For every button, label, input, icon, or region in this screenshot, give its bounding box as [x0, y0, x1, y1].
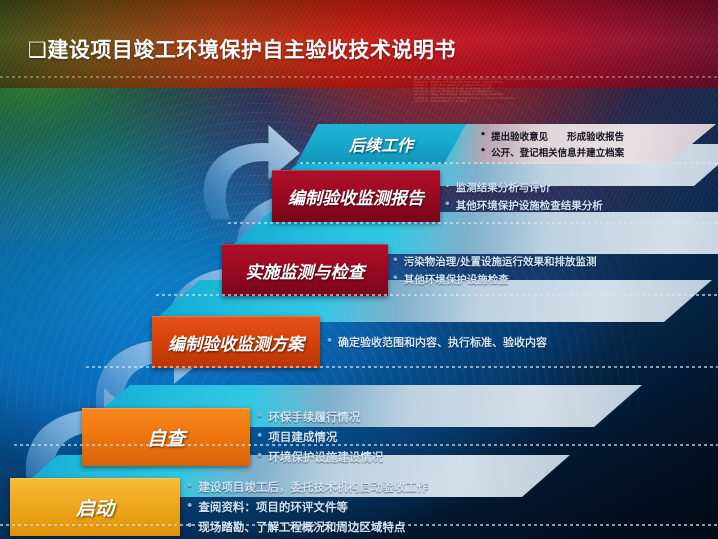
step-3-bullet-1-text: 确定验收范围和内容、执行标准、验收内容	[338, 334, 547, 350]
step-2-bullet-1: • 环保手续履行情况	[256, 409, 586, 425]
step-2-bullet-2-text: 项目建成情况	[268, 429, 337, 445]
step-1-bullet-1-text: 建设项目竣工后，委托技术机构启动验收工作	[198, 479, 428, 495]
step-4-bullet-2-text: 其他环境保护设施检查	[404, 272, 509, 287]
separator-line-bottom	[0, 524, 718, 526]
bullet-dot-icon: •	[480, 146, 486, 156]
separator-line-top	[300, 162, 718, 164]
step-4-plate[interactable]: 实施监测与检查	[222, 244, 388, 296]
step-6-bullet-2-text: 公开、登记相关信息并建立档案	[491, 145, 624, 159]
separator-line-5	[14, 444, 718, 446]
step-1-label: 启动	[76, 494, 114, 521]
step-1-bullet-3: • 现场踏勘、了解工程概况和周边区域特点	[186, 519, 606, 535]
step-1-bullets: • 建设项目竣工后，委托技术机构启动验收工作 • 查阅资料：项目的环评文件等 •…	[186, 478, 606, 536]
step-4-bullets: • 污染物治理/处置设施运行效果和排放监测 • 其他环境保护设施检查	[392, 244, 712, 296]
step-2-bullet-3: • 环境保护设施建设情况	[256, 449, 586, 465]
step-2-plate[interactable]: 自查	[82, 408, 250, 466]
bullet-dot-icon: •	[392, 273, 399, 284]
step-6-bullet-1: • 提出验收意见 形成验收报告	[480, 129, 716, 143]
step-6-label: 后续工作	[349, 132, 413, 156]
step-6-bullets: • 提出验收意见 形成验收报告 • 公开、登记相关信息并建立档案	[480, 124, 716, 164]
step-1-plate[interactable]: 启动	[10, 478, 180, 536]
step-4-bullet-1: • 污染物治理/处置设施运行效果和排放监测	[392, 254, 712, 269]
step-6-plate[interactable]: 后续工作	[296, 124, 466, 164]
step-3-bullet-1: • 确定验收范围和内容、执行标准、验收内容	[326, 334, 686, 350]
bullet-dot-icon: •	[256, 450, 263, 462]
step-4-label: 实施监测与检查	[246, 258, 365, 283]
step-2-bullet-2: • 项目建成情况	[256, 429, 586, 445]
step-1-bullet-2: • 查阅资料：项目的环评文件等	[186, 499, 606, 515]
bullet-dot-icon: •	[444, 181, 451, 192]
step-4-bullet-2: • 其他环境保护设施检查	[392, 272, 712, 287]
page-title: ❑建设项目竣工环境保护自主验收技术说明书	[28, 34, 456, 64]
step-5-label: 编制验收监测报告	[288, 184, 424, 209]
step-5-bullet-1: • 监测结果分析与评价	[444, 180, 714, 195]
step-2-bullet-1-text: 环保手续履行情况	[268, 409, 360, 425]
step-2-bullets: • 环保手续履行情况 • 项目建成情况 • 环境保护设施建设情况	[256, 408, 586, 466]
step-2-bullet-3-text: 环境保护设施建设情况	[268, 449, 383, 465]
title-underline	[0, 76, 718, 78]
bullet-dot-icon: •	[256, 430, 263, 442]
slide-canvas: Notes: Construction Project Completion E…	[0, 0, 718, 539]
separator-line-2	[228, 222, 718, 224]
separator-line-3	[156, 294, 718, 296]
step-3-plate[interactable]: 编制验收监测方案	[152, 316, 320, 368]
separator-line-4	[86, 366, 718, 368]
step-4-bullet-1-text: 污染物治理/处置设施运行效果和排放监测	[404, 254, 597, 269]
step-5-bullet-2-text: 其他环境保护设施检查结果分析	[456, 198, 603, 213]
step-6-bullet-2: • 公开、登记相关信息并建立档案	[480, 145, 716, 159]
step-5-plate[interactable]: 编制验收监测报告	[272, 170, 440, 222]
step-2-label: 自查	[147, 424, 185, 451]
step-3-label: 编制验收监测方案	[168, 330, 304, 355]
step-1-bullet-1: • 建设项目竣工后，委托技术机构启动验收工作	[186, 479, 606, 495]
step-1-bullet-2-text: 查阅资料：项目的环评文件等	[198, 499, 348, 515]
step-5-bullets: • 监测结果分析与评价 • 其他环境保护设施检查结果分析	[444, 170, 714, 222]
bullet-dot-icon: •	[392, 255, 399, 266]
step-5-bullet-1-text: 监测结果分析与评价	[456, 180, 551, 195]
step-5-bullet-2: • 其他环境保护设施检查结果分析	[444, 198, 714, 213]
step-6-bullet-1-text: 提出验收意见 形成验收报告	[491, 129, 624, 143]
bullet-dot-icon: •	[186, 480, 193, 492]
bullet-dot-icon: •	[326, 335, 333, 346]
bullet-dot-icon: •	[480, 130, 486, 140]
bullet-dot-icon: •	[444, 199, 451, 210]
bullet-dot-icon: •	[186, 500, 193, 512]
step-3-bullets: • 确定验收范围和内容、执行标准、验收内容	[326, 316, 686, 368]
bullet-dot-icon: •	[256, 410, 263, 422]
step-1-bullet-3-text: 现场踏勘、了解工程概况和周边区域特点	[198, 519, 405, 535]
